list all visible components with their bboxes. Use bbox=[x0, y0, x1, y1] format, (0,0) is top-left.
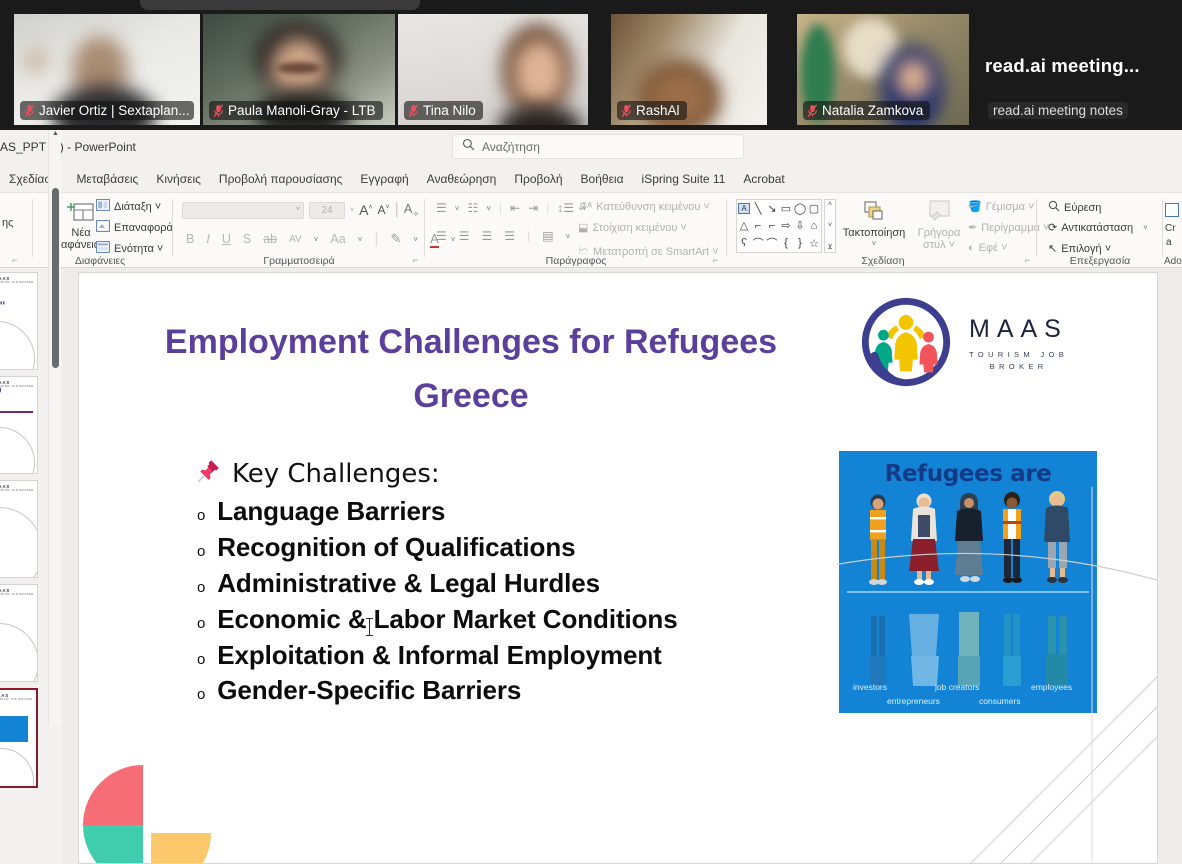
triangle-shape[interactable]: △ bbox=[740, 219, 748, 232]
replace-button[interactable]: ⟳ Αντικατάσταση ˅ bbox=[1048, 221, 1148, 234]
new-slide-label-1: Νέα bbox=[71, 227, 90, 240]
thumb-brand: MAASTOURISM JOB BROKER bbox=[0, 276, 34, 284]
strikethrough-button[interactable]: ab bbox=[263, 232, 277, 246]
rounded-rect-shape[interactable]: ▢ bbox=[809, 202, 819, 215]
shape-gallery[interactable]: A ╲ ↘ ▭ ◯ ▢ △ ⌐ ⌐ ⇨ ⇩ ⌂ ʕ ⌒ ⌒ { } bbox=[736, 199, 836, 253]
search-icon bbox=[1048, 200, 1060, 215]
pushpin-icon bbox=[197, 458, 222, 490]
bullet-text: Language Barriers bbox=[217, 494, 445, 530]
participant-tile[interactable]: Tina Nilo bbox=[398, 14, 588, 125]
chevron-down-icon: ˅ bbox=[358, 235, 363, 244]
ribbon-group-clipboard: ης ⌐ bbox=[0, 193, 30, 269]
bullet-text: Exploitation & Informal Employment bbox=[217, 638, 661, 674]
document-title: AS_PPT (1) - PowerPoint bbox=[0, 140, 136, 154]
arc-shape[interactable]: ⌒ bbox=[767, 235, 778, 251]
down-arrow-shape[interactable]: ⇩ bbox=[795, 219, 804, 232]
paragraph-dialog-launcher[interactable]: ⌐ bbox=[713, 255, 718, 265]
decrease-indent-button[interactable]: ⇤ bbox=[510, 201, 520, 215]
quick-styles-button[interactable]: Γρήγορα στυλ ˅ bbox=[912, 199, 966, 252]
clipboard-dialog-launcher[interactable]: ⌐ bbox=[12, 255, 17, 265]
outline-pen-icon: ✒ bbox=[968, 221, 977, 234]
reset-icon bbox=[96, 220, 110, 235]
shape-fill-button[interactable]: 🪣 Γέμισμα ˅ bbox=[968, 200, 1034, 213]
tab-slideshow[interactable]: Προβολή παρουσίασης bbox=[210, 169, 352, 189]
shrink-font-button[interactable]: A˅ bbox=[378, 203, 390, 217]
tab-animations[interactable]: Κινήσεις bbox=[147, 169, 210, 189]
character-spacing-button[interactable]: AV bbox=[289, 234, 302, 245]
shape-effects-label: Εφέ ˅ bbox=[979, 242, 1008, 254]
chevron-down-icon: ˅ bbox=[296, 206, 300, 213]
shadow-button[interactable]: S bbox=[243, 232, 251, 246]
bullet-marker: o bbox=[197, 542, 205, 563]
bullet-text: Economic & Labor Market Conditions bbox=[217, 602, 677, 638]
textbox-shape[interactable]: A bbox=[738, 203, 749, 214]
layout-button[interactable]: Διάταξη ˅ bbox=[96, 199, 161, 214]
align-right-button[interactable]: ☰ bbox=[482, 229, 493, 243]
arrange-button[interactable]: Τακτοποίηση ˅ bbox=[838, 199, 910, 248]
chevron-down-icon: ˅ bbox=[566, 232, 571, 241]
scroll-down-icon[interactable]: ˅ bbox=[828, 222, 832, 229]
bullet-marker: o bbox=[197, 578, 205, 599]
text-direction-label: Κατεύθυνση κειμένου ˅ bbox=[596, 201, 710, 213]
bullet-item: o Gender-Specific Barriers bbox=[197, 673, 837, 709]
slide-canvas-area: Employment Challenges for Refugees Greec… bbox=[62, 268, 1182, 864]
maas-tagline-1: TOURISM JOB bbox=[969, 349, 1068, 361]
change-case-button[interactable]: Aa bbox=[330, 232, 345, 246]
ribbon: ης ⌐ Νέα διαφάνεια ˅ Διάταξη ˅ Επαναφορά bbox=[0, 192, 1182, 268]
bullet-text: Gender-Specific Barriers bbox=[217, 673, 521, 709]
align-center-button[interactable]: ☰ bbox=[459, 229, 470, 243]
replace-icon: ⟳ bbox=[1048, 221, 1057, 234]
bullet-item: o Exploitation & Informal Employment bbox=[197, 638, 837, 674]
slide-title-line-2: Greece bbox=[413, 377, 528, 415]
chevron-down-icon: ˅ bbox=[350, 207, 354, 214]
title-bar: AS_PPT (1) - PowerPoint Αναζήτηση bbox=[0, 130, 1182, 166]
chevron-down-icon: ˅ bbox=[486, 204, 491, 213]
slide-title-line-1: Employment Challenges for Refugees bbox=[165, 323, 777, 361]
text-direction-button[interactable]: ⇵ᴬ Κατεύθυνση κειμένου ˅ bbox=[578, 200, 710, 213]
font-size-input[interactable]: 24 bbox=[309, 202, 345, 219]
bullet-marker: o bbox=[197, 506, 205, 527]
bullet-text: Recognition of Qualifications bbox=[217, 530, 575, 566]
thumb-title-fragment: n?" bbox=[0, 299, 5, 313]
right-brace-shape[interactable]: } bbox=[798, 237, 802, 249]
participant-nameplate: Javier Ortiz | Sextaplan... bbox=[20, 101, 194, 120]
key-challenges-label: Key Challenges: bbox=[232, 459, 440, 489]
editing-group-label: Επεξεργασία bbox=[1040, 255, 1160, 267]
search-icon bbox=[462, 138, 475, 156]
ribbon-group-font: ˅ 24 ˅ A˄ A˅ | A✧ B I U S ab AV ˅ Aa ˅ | bbox=[178, 193, 420, 269]
muted-mic-icon bbox=[213, 104, 224, 118]
muted-mic-icon bbox=[408, 104, 419, 118]
paragraph-group-label: Παράγραφος bbox=[430, 255, 722, 267]
bullet-item: o Language Barriers bbox=[197, 494, 837, 530]
layout-icon bbox=[96, 199, 110, 214]
increase-indent-button[interactable]: ⇥ bbox=[528, 201, 538, 215]
elbow-connector-shape[interactable]: ⌐ bbox=[755, 220, 761, 232]
tab-record[interactable]: Εγγραφή bbox=[351, 169, 417, 189]
select-button[interactable]: ↖ Επιλογή ˅ bbox=[1048, 242, 1111, 255]
grow-font-button[interactable]: A˄ bbox=[359, 202, 372, 218]
shapes-more-icon[interactable]: ⊻ bbox=[827, 243, 832, 251]
maas-brand-text: MAAS bbox=[969, 315, 1068, 344]
cursor-arrow-icon: ↖ bbox=[1048, 242, 1057, 255]
shapes-grid[interactable]: A ╲ ↘ ▭ ◯ ▢ △ ⌐ ⌐ ⇨ ⇩ ⌂ ʕ ⌒ ⌒ { } bbox=[736, 199, 822, 253]
tab-help[interactable]: Βοήθεια bbox=[572, 169, 633, 189]
section-icon bbox=[96, 241, 110, 256]
decorative-quarter-circles bbox=[78, 755, 213, 864]
font-group-label: Γραμματοσειρά bbox=[178, 255, 420, 267]
adobe-group-label: Adobe bbox=[1164, 256, 1182, 267]
scroll-up-icon[interactable]: ▲ bbox=[49, 130, 62, 144]
quick-styles-label-2: στυλ ˅ bbox=[923, 239, 955, 252]
slide[interactable]: Employment Challenges for Refugees Greec… bbox=[78, 272, 1158, 864]
rectangle-shape[interactable]: ▭ bbox=[781, 202, 791, 215]
line-spacing-button[interactable]: ↕☰ bbox=[557, 201, 574, 215]
fill-bucket-icon: 🪣 bbox=[968, 200, 982, 213]
participant-name: Tina Nilo bbox=[423, 103, 476, 118]
slide-thumbnail[interactable]: MAASTOURISM JOB BROKER bbox=[0, 376, 38, 474]
participant-tile[interactable]: Paula Manoli-Gray - LTB bbox=[203, 14, 395, 125]
participant-tile[interactable]: Natalia Zamkova bbox=[797, 14, 969, 125]
bullet-item: o Recognition of Qualifications bbox=[197, 530, 837, 566]
align-text-icon: ⬓ bbox=[578, 221, 588, 234]
select-label: Επιλογή ˅ bbox=[1061, 243, 1111, 255]
bullet-item: o Economic & Labor Market Conditions bbox=[197, 602, 837, 638]
ribbon-tabs: Σχεδίαση Μεταβάσεις Κινήσεις Προβολή παρ… bbox=[0, 166, 1182, 192]
shapes-scrollbar[interactable]: ˄ ˅ ⊻ bbox=[824, 199, 836, 253]
chevron-down-icon: ˅ bbox=[314, 235, 319, 244]
tab-transitions[interactable]: Μεταβάσεις bbox=[67, 169, 147, 189]
thumb-brand: MAASTOURISM JOB BROKER bbox=[0, 588, 34, 596]
slide-thumbnail[interactable]: MAASTOURISM JOB BROKER bbox=[0, 480, 38, 578]
adobe-line-2: a bbox=[1166, 237, 1172, 248]
tab-view[interactable]: Προβολή bbox=[505, 169, 571, 189]
ribbon-group-paragraph: ☰˅ ☷˅ | ⇤ ⇥ | ↕☰˅ ☰ ☰ ☰ ☰ | ▤˅ ⇵ᴬ Κατεύθ… bbox=[430, 193, 722, 269]
elbow-arrow-shape[interactable]: ⌐ bbox=[769, 220, 775, 232]
effects-icon: ◐ bbox=[968, 242, 975, 254]
participant-nameplate: Paula Manoli-Gray - LTB bbox=[209, 101, 383, 120]
ribbon-group-adobe: Cr a Adobe bbox=[1164, 193, 1182, 269]
key-challenges-heading: Key Challenges: bbox=[197, 458, 837, 490]
tab-review[interactable]: Αναθεώρηση bbox=[418, 169, 506, 189]
chevron-down-icon: ˅ bbox=[455, 204, 460, 213]
columns-button[interactable]: ▤ bbox=[542, 229, 553, 243]
chevron-down-icon: ˅ bbox=[413, 235, 418, 244]
maas-logo: MAAS TOURISM JOB BROKER bbox=[857, 293, 1068, 391]
numbering-button[interactable]: ☷ bbox=[467, 201, 478, 215]
find-label: Εύρεση bbox=[1064, 202, 1101, 214]
maas-wordmark: MAAS TOURISM JOB BROKER bbox=[969, 311, 1068, 373]
bullet-marker: o bbox=[197, 614, 205, 635]
thumb-brand: MAASTOURISM JOB BROKER bbox=[0, 380, 34, 388]
arrange-icon bbox=[859, 199, 889, 227]
tab-ispring[interactable]: iSpring Suite 11 bbox=[633, 169, 735, 189]
chevron-down-icon: ˅ bbox=[1143, 223, 1148, 232]
participant-tile[interactable]: RashAl bbox=[611, 14, 767, 125]
pentagon-shape[interactable]: ⌂ bbox=[811, 220, 818, 232]
participant-nameplate: Tina Nilo bbox=[404, 101, 483, 120]
left-brace-shape[interactable]: { bbox=[784, 237, 788, 249]
arrange-label: Τακτοποίηση bbox=[843, 227, 906, 240]
section-label: Ενότητα ˅ bbox=[114, 243, 163, 255]
muted-mic-icon bbox=[807, 104, 818, 118]
scrollbar-thumb[interactable] bbox=[52, 188, 59, 368]
scroll-up-icon[interactable]: ˄ bbox=[828, 201, 832, 208]
text-highlight-button[interactable]: ✎ bbox=[391, 231, 402, 247]
zoom-toolbar-pill bbox=[140, 0, 420, 10]
thumbnail-scrollbar[interactable]: ▲ bbox=[48, 130, 61, 726]
clear-formatting-button[interactable]: A✧ bbox=[404, 201, 419, 219]
bullet-marker: o bbox=[197, 685, 205, 706]
curve-shape[interactable]: ⌒ bbox=[753, 235, 764, 251]
slide-thumbnail[interactable]: MAASTOURISM JOB BROKER bbox=[0, 584, 38, 682]
tab-acrobat[interactable]: Acrobat bbox=[734, 169, 793, 189]
scribble-shape[interactable]: ʕ bbox=[741, 237, 747, 249]
participant-name: RashAl bbox=[636, 103, 680, 118]
drawing-dialog-launcher[interactable]: ⌐ bbox=[1025, 255, 1030, 265]
readai-bot-label: read.ai meeting notes bbox=[988, 102, 1128, 119]
readai-bot-title: read.ai meeting... bbox=[985, 55, 1140, 77]
bullet-item: o Administrative & Legal Hurdles bbox=[197, 566, 837, 602]
search-placeholder: Αναζήτηση bbox=[482, 140, 540, 154]
shape-fill-label: Γέμισμα ˅ bbox=[986, 201, 1035, 213]
zoom-video-strip: Javier Ortiz | Sextaplan... Paula Manoli… bbox=[0, 0, 1182, 130]
maas-logo-mark bbox=[857, 293, 955, 391]
slide-title[interactable]: Employment Challenges for Refugees Greec… bbox=[101, 315, 841, 424]
adobe-icon[interactable] bbox=[1165, 203, 1179, 217]
bullets-button[interactable]: ☰ bbox=[436, 201, 447, 215]
justify-button[interactable]: ☰ bbox=[504, 229, 515, 243]
text-direction-icon: ⇵ᴬ bbox=[578, 200, 592, 213]
thumb-refugees-image bbox=[0, 716, 28, 742]
shape-outline-button[interactable]: ✒ Περίγραμμα ˅ bbox=[968, 221, 1049, 234]
slide-thumbnail-selected[interactable]: MAASTOURISM JOB BROKER bbox=[0, 688, 38, 788]
align-text-label: Στοίχιση κειμένου ˅ bbox=[592, 222, 686, 234]
thumb-brand: MAASTOURISM JOB BROKER bbox=[0, 484, 34, 492]
font-name-input[interactable]: ˅ bbox=[182, 202, 304, 219]
powerpoint-window: AS_PPT (1) - PowerPoint Αναζήτηση Σχεδία… bbox=[0, 130, 1182, 864]
text-cursor bbox=[369, 618, 370, 636]
adobe-line-1: Cr bbox=[1165, 223, 1176, 234]
refugees-image-heading: Refugees are bbox=[839, 461, 1097, 487]
line-shape[interactable]: ╲ bbox=[755, 202, 762, 215]
slide-thumbnail[interactable]: MAASTOURISM JOB BROKER n?" bbox=[0, 272, 38, 370]
participant-name: Natalia Zamkova bbox=[822, 103, 923, 118]
shape-effects-button[interactable]: ◐ Εφέ ˅ bbox=[968, 242, 1008, 254]
align-left-button[interactable]: ☰ bbox=[436, 229, 447, 243]
quick-styles-icon bbox=[924, 199, 954, 227]
muted-mic-icon bbox=[621, 104, 632, 118]
participant-nameplate: Natalia Zamkova bbox=[803, 101, 930, 120]
find-button[interactable]: Εύρεση bbox=[1048, 200, 1101, 215]
underline-button[interactable]: U bbox=[222, 232, 231, 246]
chevron-down-icon: ˅ bbox=[872, 239, 877, 248]
star-shape[interactable]: ☆ bbox=[809, 237, 819, 250]
italic-button[interactable]: I bbox=[206, 232, 209, 246]
participant-name: Javier Ortiz | Sextaplan... bbox=[39, 103, 190, 118]
participant-name: Paula Manoli-Gray - LTB bbox=[228, 103, 376, 118]
reset-label: Επαναφορά bbox=[114, 222, 173, 234]
section-button[interactable]: Ενότητα ˅ bbox=[96, 241, 163, 256]
layout-label: Διάταξη ˅ bbox=[114, 201, 161, 213]
font-dialog-launcher[interactable]: ⌐ bbox=[413, 255, 418, 265]
oval-shape[interactable]: ◯ bbox=[794, 202, 806, 215]
clipboard-label: ης bbox=[2, 217, 13, 229]
thumb-brand: MAASTOURISM JOB BROKER bbox=[0, 693, 33, 701]
participant-nameplate: RashAl bbox=[617, 101, 687, 120]
reset-button[interactable]: Επαναφορά bbox=[96, 220, 173, 235]
bullet-text: Administrative & Legal Hurdles bbox=[217, 566, 600, 602]
ribbon-group-editing: Εύρεση ⟳ Αντικατάσταση ˅ ↖ Επιλογή ˅ Επε… bbox=[1040, 193, 1160, 269]
decorative-lines bbox=[837, 487, 1158, 864]
maas-tagline-2: BROKER bbox=[969, 361, 1068, 373]
right-arrow-shape[interactable]: ⇨ bbox=[781, 219, 790, 232]
muted-mic-icon bbox=[24, 104, 35, 118]
bold-button[interactable]: B bbox=[186, 232, 194, 246]
bullet-marker: o bbox=[197, 650, 205, 671]
drawing-group-label: Σχεδίαση bbox=[732, 255, 1034, 267]
participant-tile[interactable]: Javier Ortiz | Sextaplan... bbox=[14, 14, 200, 125]
bullet-list[interactable]: Key Challenges: o Language Barriers o Re… bbox=[197, 458, 837, 709]
ribbon-group-drawing: A ╲ ↘ ▭ ◯ ▢ △ ⌐ ⌐ ⇨ ⇩ ⌂ ʕ ⌒ ⌒ { } bbox=[732, 193, 1034, 269]
align-text-button[interactable]: ⬓ Στοίχιση κειμένου ˅ bbox=[578, 221, 687, 234]
arrow-shape[interactable]: ↘ bbox=[767, 202, 776, 215]
new-slide-icon bbox=[67, 199, 95, 227]
search-input[interactable]: Αναζήτηση bbox=[452, 134, 744, 159]
slide-thumbnail-panel[interactable]: MAASTOURISM JOB BROKER n?" MAASTOURISM J… bbox=[0, 268, 46, 864]
replace-label: Αντικατάσταση bbox=[1061, 222, 1133, 234]
quick-styles-label-1: Γρήγορα bbox=[918, 227, 961, 240]
